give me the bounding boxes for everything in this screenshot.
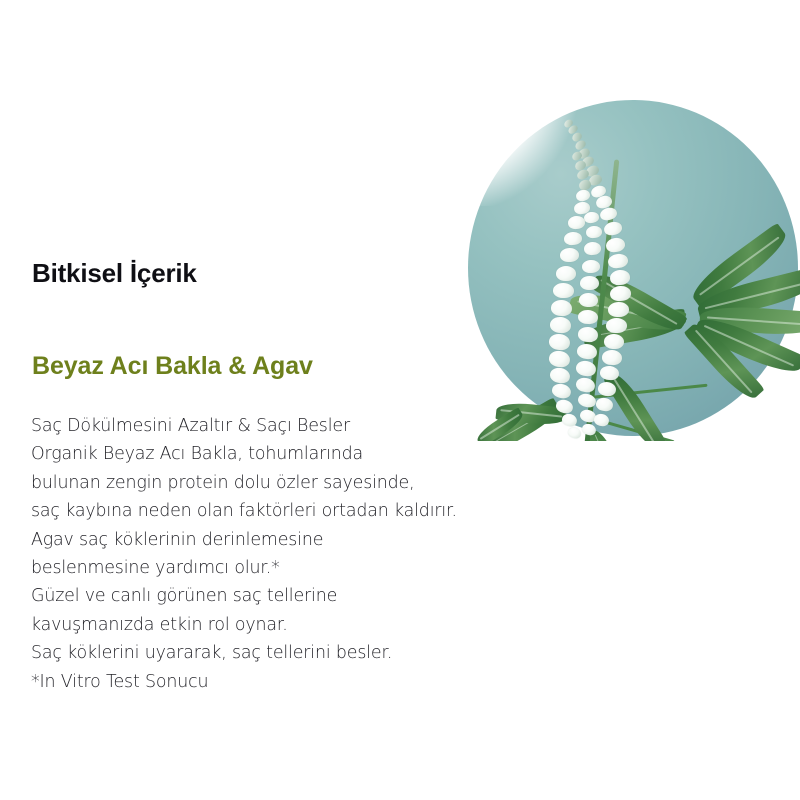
body-line: saç kaybına neden olan faktörleri ortada… xyxy=(31,497,591,525)
body-line: beslenmesine yardımcı olur.* xyxy=(31,554,591,582)
body-line: bulunan zengin protein dolu özler sayesi… xyxy=(31,469,591,497)
body-line: Saç Dökülmesini Azaltır & Saçı Besler xyxy=(31,412,591,440)
plant-photo-block xyxy=(462,96,800,441)
body-line: Güzel ve canlı görünen saç tellerine xyxy=(31,582,591,610)
photo-corner-fade xyxy=(462,96,582,206)
body-copy: Saç Dökülmesini Azaltır & Saçı Besler Or… xyxy=(31,412,591,696)
page-title: Bitkisel İçerik xyxy=(32,258,197,289)
product-name-heading: Beyaz Acı Bakla & Agav xyxy=(32,352,313,381)
body-line: kavuşmanızda etkin rol oynar. xyxy=(31,611,591,639)
footnote-line: *In Vitro Test Sonucu xyxy=(31,668,591,696)
body-line: Agav saç köklerinin derinlemesine xyxy=(31,526,591,554)
body-line: Saç köklerini uyararak, saç tellerini be… xyxy=(31,639,591,667)
product-info-panel: Bitkisel İçerik Beyaz Acı Bakla & Agav S… xyxy=(0,0,800,800)
body-line: Organik Beyaz Acı Bakla, tohumlarında xyxy=(31,440,591,468)
